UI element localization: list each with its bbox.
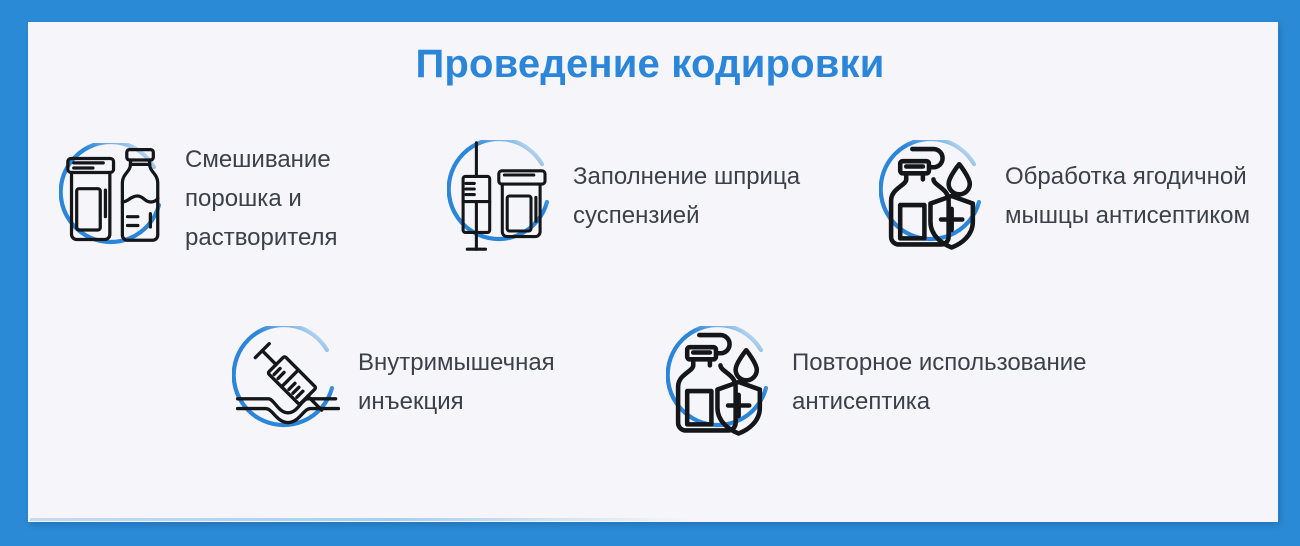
- step-3-label: Обработка ягодичной мышцы антисептиком: [1005, 157, 1250, 235]
- step-4-icon: [232, 326, 344, 438]
- step-4-circle: [232, 326, 344, 438]
- step-item-1[interactable]: Смешивание порошка и растворителя: [59, 140, 338, 257]
- step-4-label: Внутримышечная инъекция: [358, 343, 555, 421]
- step-item-2[interactable]: Заполнение шприца суспензией: [447, 140, 800, 252]
- step-1-circle: [59, 143, 171, 255]
- panel-bottom-highlight: [30, 518, 690, 521]
- content-panel: [28, 22, 1278, 522]
- step-item-4[interactable]: Внутримышечная инъекция: [232, 326, 555, 438]
- step-3-icon: [879, 140, 991, 252]
- step-2-label: Заполнение шприца суспензией: [573, 157, 800, 235]
- step-5-icon: [666, 326, 778, 438]
- step-item-3[interactable]: Обработка ягодичной мышцы антисептиком: [879, 140, 1250, 252]
- step-5-label: Повторное использование антисептика: [792, 343, 1087, 421]
- step-1-label: Смешивание порошка и растворителя: [185, 140, 338, 257]
- step-5-circle: [666, 326, 778, 438]
- outer-blue-frame: Проведение кодировки: [0, 0, 1300, 546]
- page-title: Проведение кодировки: [0, 42, 1300, 87]
- step-2-icon: [447, 140, 559, 252]
- step-2-circle: [447, 140, 559, 252]
- step-1-icon: [59, 143, 171, 255]
- step-item-5[interactable]: Повторное использование антисептика: [666, 326, 1087, 438]
- step-3-circle: [879, 140, 991, 252]
